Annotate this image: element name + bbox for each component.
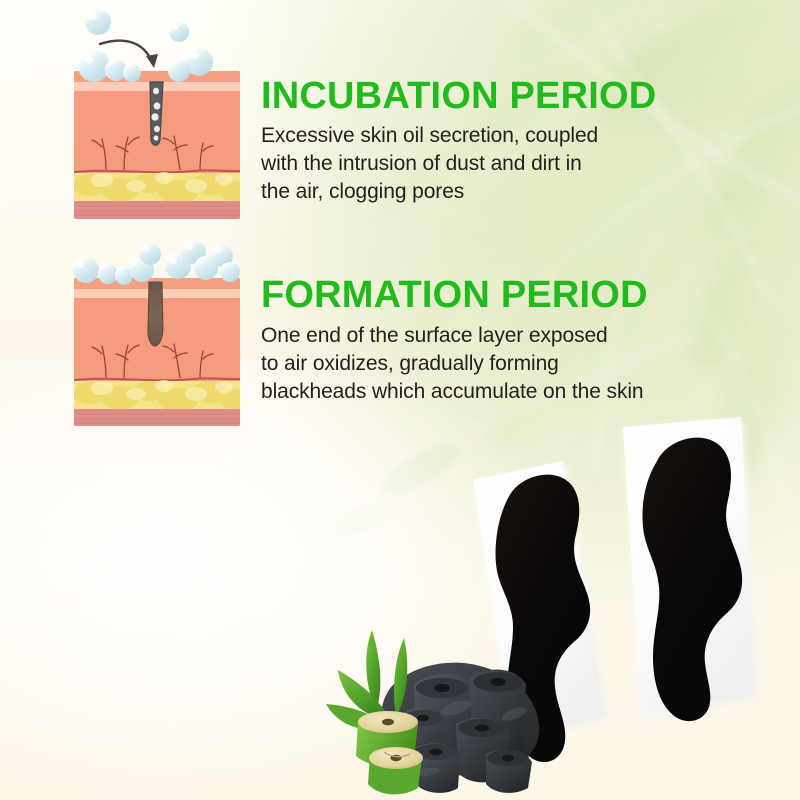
incubation-body-line: Excessive skin oil secretion, coupled [261, 122, 661, 150]
incubation-body: Excessive skin oil secretion, coupled wi… [261, 122, 661, 206]
incubation-heading: INCUBATION PERIOD [261, 77, 656, 115]
formation-body-line: to air oxidizes, gradually forming [261, 350, 691, 378]
incubation-skin-diagram [62, 0, 252, 228]
bamboo-stalks [356, 711, 423, 794]
infographic-canvas: INCUBATION PERIOD Excessive skin oil sec… [0, 0, 800, 800]
charcoal-tubes [402, 669, 532, 792]
formation-body-line: blackheads which accumulate on the skin [261, 378, 691, 406]
formation-body: One end of the surface layer exposed to … [261, 322, 691, 406]
formation-heading: FORMATION PERIOD [261, 276, 648, 314]
formation-body-line: One end of the surface layer exposed [261, 322, 691, 350]
bamboo-charcoal-photo [318, 608, 558, 800]
formation-skin-diagram [62, 238, 252, 430]
incubation-body-line: with the intrusion of dust and dirt in [261, 150, 661, 178]
incubation-body-line: the air, clogging pores [261, 178, 661, 206]
